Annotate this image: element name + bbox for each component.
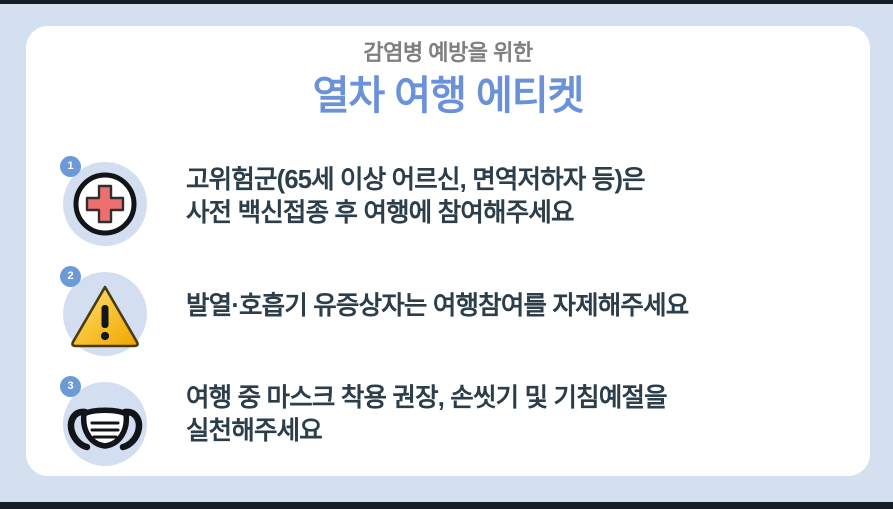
- poster-title: 열차 여행 에티켓: [26, 70, 870, 122]
- list-item: 3 여행 중 마스크 착용 권장, 손씻기 및 기침예절을 실천해주세요: [26, 370, 870, 480]
- icon-cell-2: 2: [26, 260, 186, 370]
- list-item: 2 발열·호흡기 유증상자는 여행참여를 자제해주세요: [26, 260, 870, 370]
- text-cell-2: 발열·호흡기 유증상자는 여행참여를 자제해주세요: [186, 260, 870, 323]
- icon-cell-1: 1: [26, 150, 186, 260]
- poster-header: 감염병 예방을 위한 열차 여행 에티켓: [26, 38, 870, 122]
- item-text-3: 여행 중 마스크 착용 권장, 손씻기 및 기침예절을 실천해주세요: [186, 382, 870, 448]
- top-edge-bar: [0, 0, 893, 4]
- text-cell-3: 여행 중 마스크 착용 권장, 손씻기 및 기침예절을 실천해주세요: [186, 370, 870, 448]
- item-text-1: 고위험군(65세 이상 어르신, 면역저하자 등)은 사전 백신접종 후 여행에…: [186, 164, 870, 230]
- item-number-badge-3: 3: [60, 376, 81, 397]
- item-number-badge-1: 1: [60, 156, 81, 177]
- icon-cell-3: 3: [26, 370, 186, 480]
- text-cell-1: 고위험군(65세 이상 어르신, 면역저하자 등)은 사전 백신접종 후 여행에…: [186, 150, 870, 230]
- list-item: 1 고위험군(65세 이상 어르신, 면역저하자 등)은 사전 백신접종 후 여…: [26, 150, 870, 260]
- item-text-2: 발열·호흡기 유증상자는 여행참여를 자제해주세요: [186, 290, 870, 323]
- item-number-badge-2: 2: [60, 266, 81, 287]
- etiquette-list: 1 고위험군(65세 이상 어르신, 면역저하자 등)은 사전 백신접종 후 여…: [26, 146, 870, 480]
- bottom-edge-bar: [0, 502, 893, 509]
- poster-card: 감염병 예방을 위한 열차 여행 에티켓 1 고위험군(65세 이상 어르신, …: [26, 26, 870, 476]
- poster-subtitle: 감염병 예방을 위한: [26, 38, 870, 68]
